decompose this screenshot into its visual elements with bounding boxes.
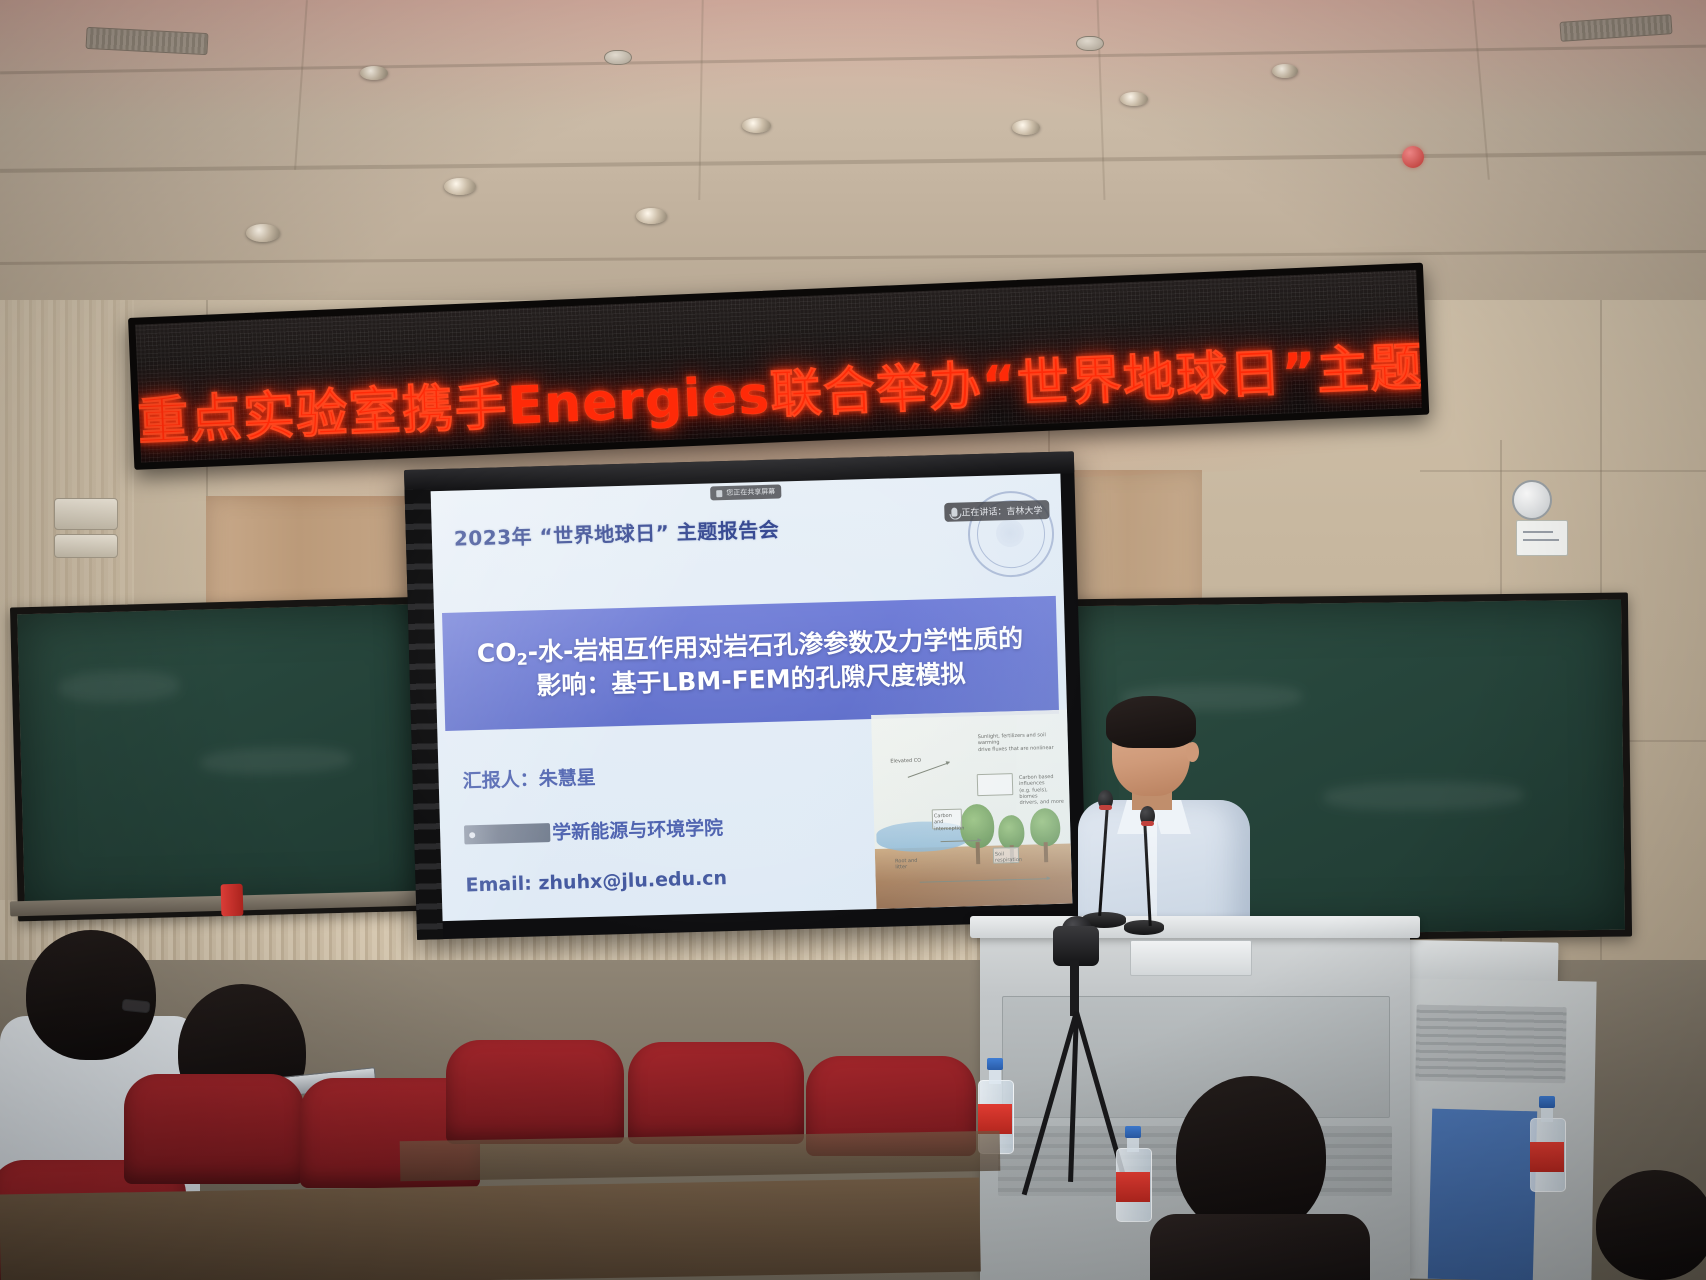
wall-notice-sign bbox=[1516, 520, 1568, 556]
ceiling-downlight bbox=[1272, 64, 1298, 78]
screen-share-toolbar[interactable]: 您正在共享屏幕 bbox=[710, 484, 781, 500]
slide-affiliation: 学新能源与环境学院 bbox=[464, 813, 724, 847]
blackboard-left bbox=[10, 597, 438, 922]
carbon-cycle-illustration: Elevated CO Sunlight, fertilizers and so… bbox=[871, 710, 1072, 909]
ceiling-downlight bbox=[742, 118, 771, 133]
tripod-column bbox=[1070, 960, 1079, 1016]
smoke-detector bbox=[604, 50, 632, 65]
slide-title-band: CO2-水-岩相互作用对岩石孔渗参数及力学性质的 影响：基于LBM-FEM的孔隙… bbox=[442, 596, 1059, 731]
audience-head bbox=[26, 930, 156, 1060]
auditorium-seat[interactable] bbox=[446, 1040, 624, 1144]
ceiling-downlight bbox=[360, 66, 388, 80]
water-bottle bbox=[1530, 1096, 1564, 1192]
lecture-hall-photo: 教育部重点实验室携手Energies联合举办“世界地球日”主题报告会 您正在共享… bbox=[0, 0, 1706, 1280]
fire-alarm-indicator bbox=[1402, 146, 1424, 168]
wall-light-fixture bbox=[54, 498, 118, 530]
ceiling-downlight bbox=[1012, 120, 1040, 135]
soda-can bbox=[221, 884, 244, 917]
active-speaker-toast: 正在讲话：吉林大学 bbox=[944, 500, 1050, 522]
cabinet-vent-grill bbox=[1415, 1005, 1566, 1084]
audience-desk-row bbox=[0, 1177, 981, 1280]
mic-icon bbox=[951, 508, 957, 517]
smoke-detector bbox=[1076, 36, 1104, 51]
audience-member-3 bbox=[1176, 1076, 1326, 1236]
slide-header: 2023年 “世界地球日” 主题报告会 bbox=[453, 514, 779, 552]
auditorium-seat[interactable] bbox=[628, 1042, 804, 1144]
screen-share-label: 您正在共享屏幕 bbox=[726, 487, 775, 498]
presenter-ear bbox=[1186, 742, 1199, 762]
presentation-slide: 您正在共享屏幕 正在讲话：吉林大学 2023年 “世界地球日” 主题报告会 CO… bbox=[431, 474, 1073, 921]
mic-indicator-ring bbox=[1141, 821, 1154, 826]
water-bottle bbox=[1116, 1126, 1150, 1222]
slide-title-line-2: 影响：基于LBM-FEM的孔隙尺度模拟 bbox=[536, 660, 966, 700]
audience-member-4 bbox=[1596, 1170, 1706, 1280]
slide-email: Email: zhuhx@jlu.edu.cn bbox=[465, 867, 727, 896]
auditorium-seat[interactable] bbox=[124, 1074, 304, 1184]
mic-icon bbox=[1124, 920, 1164, 935]
wall-clock-icon bbox=[1512, 480, 1552, 520]
ceiling-downlight bbox=[636, 208, 667, 224]
ceiling-downlight bbox=[246, 224, 280, 242]
podium-shelf bbox=[1130, 940, 1252, 976]
audience-shoulders bbox=[1150, 1214, 1370, 1280]
podium-top-surface bbox=[970, 916, 1420, 938]
projection-screen-icon: 您正在共享屏幕 正在讲话：吉林大学 2023年 “世界地球日” 主题报告会 CO… bbox=[404, 451, 1087, 940]
ceiling-downlight bbox=[444, 178, 476, 195]
blue-equipment-panel bbox=[1428, 1109, 1537, 1280]
wall-light-fixture bbox=[54, 534, 118, 558]
active-speaker-label: 正在讲话：吉林大学 bbox=[961, 503, 1042, 518]
mic-indicator-ring bbox=[1099, 805, 1112, 810]
presenter-hair bbox=[1106, 696, 1196, 748]
redaction-block bbox=[464, 823, 550, 844]
share-icon bbox=[716, 490, 722, 497]
ceiling-downlight bbox=[1120, 92, 1148, 106]
wall-panel-seam bbox=[1420, 470, 1706, 472]
slide-presenter: 汇报人：朱慧星 bbox=[462, 763, 596, 794]
